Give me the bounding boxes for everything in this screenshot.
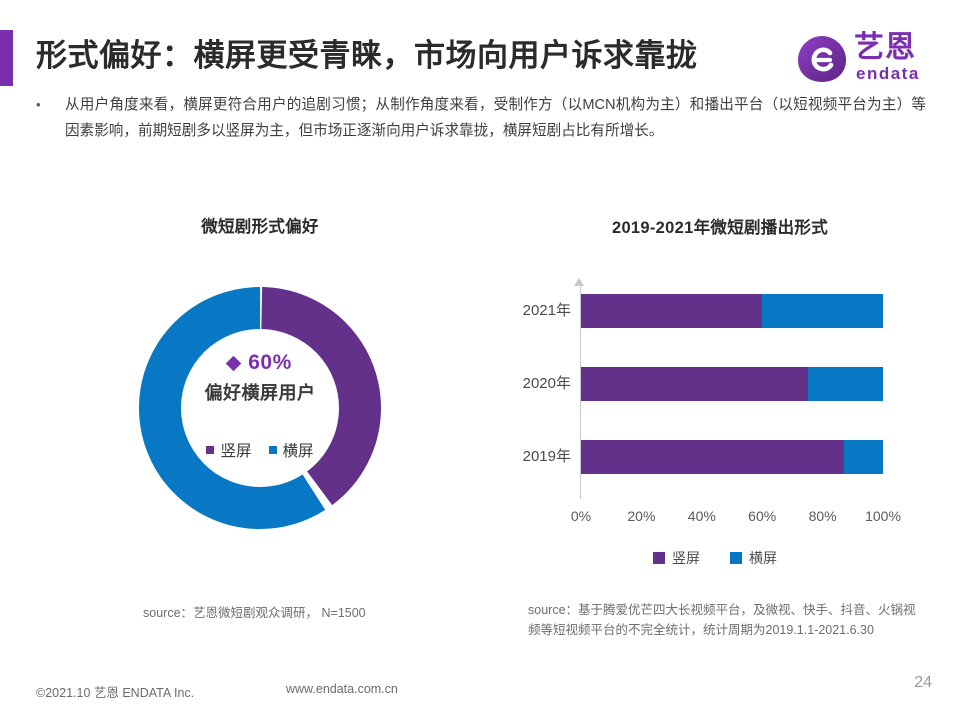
x-tick-40: 40%: [688, 508, 716, 524]
bar-category-label-2019: 2019年: [505, 440, 571, 474]
bar-chart-legend: 竖屏 横屏: [505, 548, 925, 568]
bar-legend-item-shuping: 竖屏: [653, 548, 700, 568]
donut-legend-label-shuping: 竖屏: [220, 439, 251, 461]
diamond-marker-icon: [226, 355, 242, 371]
source-note-right: source：基于腾爱优芒四大长视频平台，及微视、快手、抖音、火锅视频等短视频平…: [528, 600, 928, 640]
bar-segment-shuping-2021: [581, 294, 762, 328]
page-number: 24: [914, 674, 932, 692]
body-paragraph: 从用户角度来看，横屏更符合用户的追剧习惯；从制作角度来看，受制作方（以MCN机构…: [65, 92, 926, 144]
donut-legend-label-hengping: 横屏: [283, 439, 314, 461]
donut-chart: 60% 偏好横屏用户 竖屏 横屏: [137, 285, 383, 531]
donut-chart-panel: 微短剧形式偏好 60% 偏好横屏用户 竖屏 横屏: [30, 200, 490, 640]
x-tick-60: 60%: [748, 508, 776, 524]
bar-chart: 2021年 2020年 2019年 0% 20% 40% 60%: [505, 270, 925, 530]
body-bullet: • 从用户角度来看，横屏更符合用户的追剧习惯；从制作角度来看，受制作方（以MCN…: [36, 92, 926, 144]
legend-swatch-blue-icon: [730, 552, 742, 564]
bar-segment-shuping-2019: [581, 440, 844, 474]
bar-segment-hengping-2020: [808, 367, 884, 401]
bar-segment-shuping-2020: [581, 367, 808, 401]
donut-chart-title: 微短剧形式偏好: [30, 213, 490, 237]
bar-track-2019: [581, 440, 883, 474]
footer-copyright: ©2021.10 艺恩 ENDATA Inc.: [36, 682, 194, 701]
bar-category-label-2020: 2020年: [505, 367, 571, 401]
table-row: 2019年: [505, 440, 925, 474]
title-accent-bar: [0, 30, 13, 86]
donut-center-value: 60%: [248, 351, 292, 375]
page-title: 形式偏好：横屏更受青睐，市场向用户诉求靠拢: [36, 28, 698, 84]
bar-chart-panel: 2019-2021年微短剧播出形式 2021年 2020年 2019年: [495, 200, 945, 640]
donut-legend-item-hengping: 横屏: [269, 439, 314, 461]
bullet-marker: •: [36, 98, 41, 111]
bar-chart-title: 2019-2021年微短剧播出形式: [495, 214, 945, 238]
x-tick-20: 20%: [627, 508, 655, 524]
logo-text-cn: 艺恩: [854, 30, 916, 66]
bar-legend-label-shuping: 竖屏: [672, 548, 700, 568]
bar-track-2021: [581, 294, 883, 328]
y-axis-arrow-icon: [574, 278, 584, 286]
bar-segment-hengping-2019: [844, 440, 883, 474]
donut-center-sublabel: 偏好横屏用户: [205, 379, 316, 405]
legend-swatch-purple-icon: [206, 446, 214, 454]
x-tick-100: 100%: [865, 508, 901, 524]
x-tick-0: 0%: [571, 508, 591, 524]
donut-legend: 竖屏 横屏: [206, 439, 313, 461]
bar-legend-label-hengping: 横屏: [749, 548, 777, 568]
bar-segment-hengping-2021: [762, 294, 883, 328]
bar-track-2020: [581, 367, 883, 401]
legend-swatch-blue-icon: [269, 446, 277, 454]
logo-text-en: endata: [856, 64, 920, 84]
bar-category-label-2021: 2021年: [505, 294, 571, 328]
donut-legend-item-shuping: 竖屏: [206, 439, 251, 461]
source-note-left: source：艺恩微短剧观众调研， N=1500: [143, 604, 366, 623]
x-tick-80: 80%: [809, 508, 837, 524]
bar-legend-item-hengping: 横屏: [730, 548, 777, 568]
table-row: 2020年: [505, 367, 925, 401]
endata-e-badge-icon: [796, 34, 848, 84]
x-axis: 0% 20% 40% 60% 80% 100%: [581, 508, 883, 528]
endata-logo: 艺恩 endata: [796, 30, 944, 88]
legend-swatch-purple-icon: [653, 552, 665, 564]
donut-center-label: 60% 偏好横屏用户 竖屏 横屏: [137, 285, 383, 531]
footer-url[interactable]: www.endata.com.cn: [286, 682, 398, 696]
table-row: 2021年: [505, 294, 925, 328]
